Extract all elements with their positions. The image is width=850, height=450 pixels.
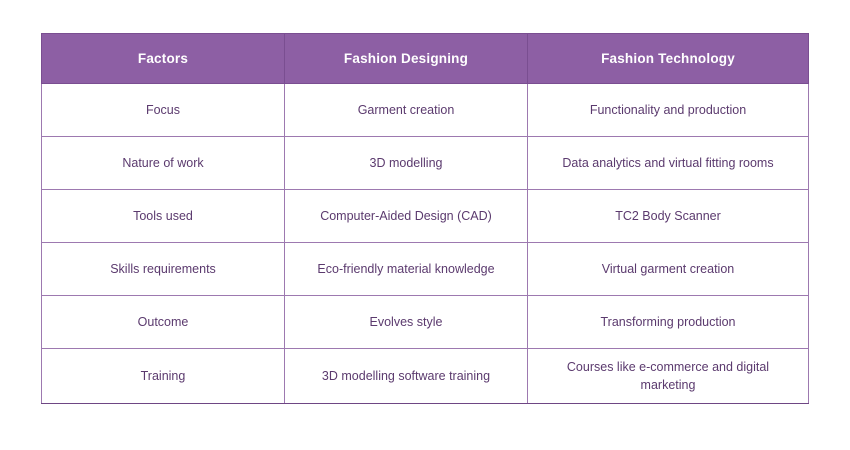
- cell-fashion-technology: TC2 Body Scanner: [528, 190, 809, 243]
- cell-fashion-designing: Eco-friendly material knowledge: [285, 243, 528, 296]
- table-row: Outcome Evolves style Transforming produ…: [42, 296, 809, 349]
- cell-factor: Nature of work: [42, 137, 285, 190]
- cell-fashion-technology: Data analytics and virtual fitting rooms: [528, 137, 809, 190]
- page-root: Factors Fashion Designing Fashion Techno…: [0, 0, 850, 450]
- table-header-row: Factors Fashion Designing Fashion Techno…: [42, 34, 809, 84]
- cell-fashion-designing: Garment creation: [285, 84, 528, 137]
- cell-factor: Skills requirements: [42, 243, 285, 296]
- table-row: Nature of work 3D modelling Data analyti…: [42, 137, 809, 190]
- cell-fashion-designing: 3D modelling software training: [285, 349, 528, 404]
- column-header-fashion-designing: Fashion Designing: [285, 34, 528, 84]
- cell-factor: Outcome: [42, 296, 285, 349]
- cell-factor: Tools used: [42, 190, 285, 243]
- table-row: Training 3D modelling software training …: [42, 349, 809, 404]
- table-header: Factors Fashion Designing Fashion Techno…: [42, 34, 809, 84]
- cell-fashion-technology: Transforming production: [528, 296, 809, 349]
- cell-fashion-technology: Virtual garment creation: [528, 243, 809, 296]
- column-header-factors: Factors: [42, 34, 285, 84]
- cell-factor: Focus: [42, 84, 285, 137]
- comparison-table-container: Factors Fashion Designing Fashion Techno…: [41, 33, 808, 404]
- cell-fashion-designing: Computer-Aided Design (CAD): [285, 190, 528, 243]
- cell-fashion-designing: 3D modelling: [285, 137, 528, 190]
- comparison-table: Factors Fashion Designing Fashion Techno…: [41, 33, 809, 404]
- table-row: Skills requirements Eco-friendly materia…: [42, 243, 809, 296]
- table-row: Focus Garment creation Functionality and…: [42, 84, 809, 137]
- table-body: Focus Garment creation Functionality and…: [42, 84, 809, 404]
- cell-fashion-technology: Courses like e-commerce and digital mark…: [528, 349, 809, 404]
- cell-fashion-technology: Functionality and production: [528, 84, 809, 137]
- cell-factor: Training: [42, 349, 285, 404]
- cell-fashion-designing: Evolves style: [285, 296, 528, 349]
- column-header-fashion-technology: Fashion Technology: [528, 34, 809, 84]
- table-row: Tools used Computer-Aided Design (CAD) T…: [42, 190, 809, 243]
